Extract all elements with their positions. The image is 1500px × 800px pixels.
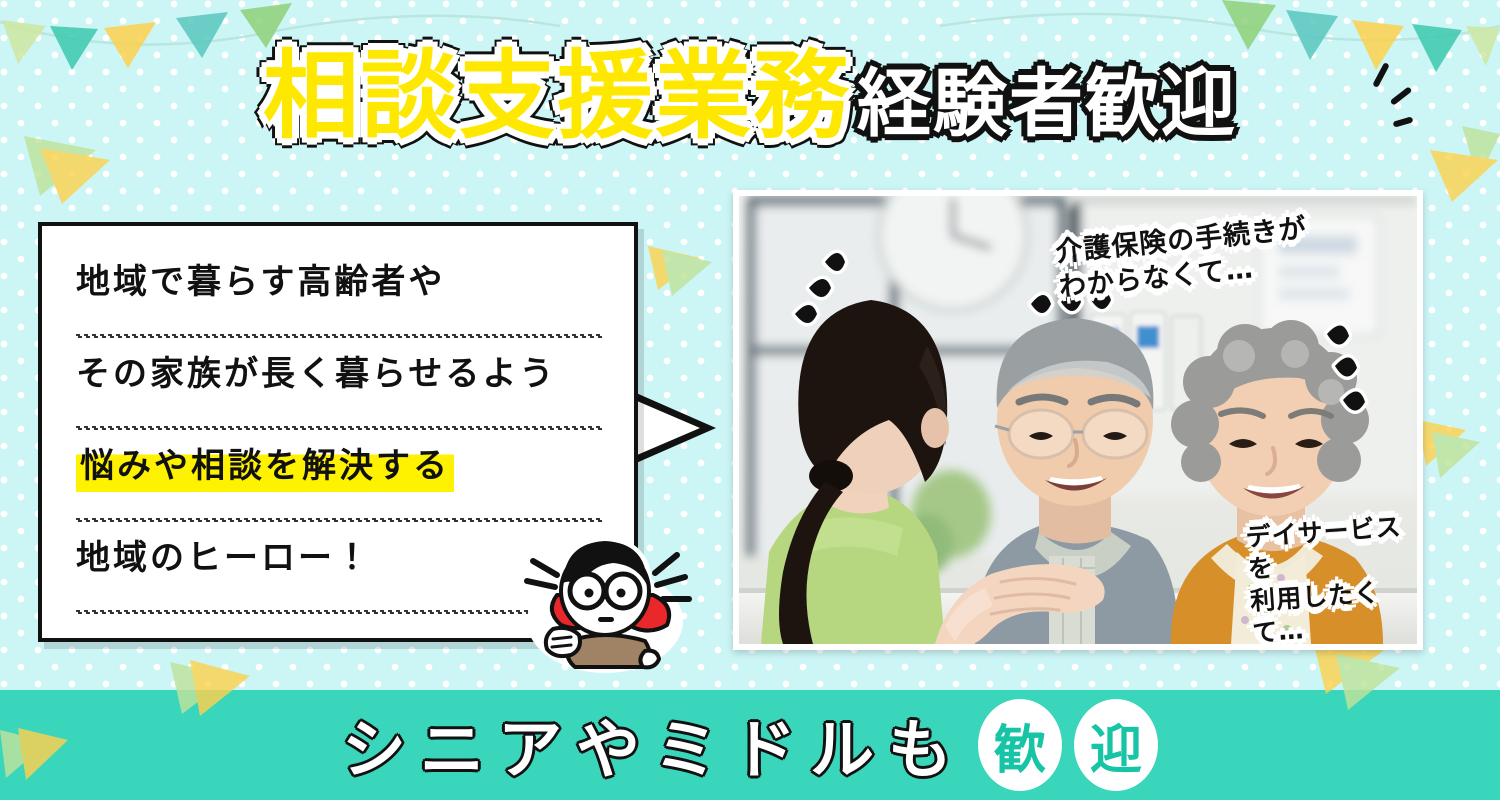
- card-divider: [76, 518, 604, 522]
- hero-mascot-icon: [505, 525, 705, 675]
- consultation-photo: 介護保険の手続きが わからなくて… デイサービスを 利用したくて…: [739, 196, 1417, 644]
- card-line: 地域で暮らす高齢者や: [76, 256, 608, 348]
- card-line-text: 地域で暮らす高齢者や: [76, 256, 445, 308]
- card-divider: [76, 426, 604, 430]
- card-line: その家族が長く暮らせるよう: [76, 348, 608, 440]
- card-line: 悩みや相談を解決する: [76, 440, 608, 532]
- headline: 相談支援業務経験者歓迎: [0, 42, 1500, 177]
- bottom-band-content: シニアやミドルも 歓 迎: [0, 690, 1500, 800]
- consultation-photo-frame: 介護保険の手続きが わからなくて… デイサービスを 利用したくて…: [733, 190, 1423, 650]
- card-line-text: その家族が長く暮らせるよう: [76, 348, 556, 400]
- headline-emphasis: 相談支援業務: [263, 42, 851, 150]
- card-line-text: 地域のヒーロー！: [76, 532, 372, 584]
- badge-kan: 歓: [978, 699, 1062, 791]
- card-line-text-highlighted: 悩みや相談を解決する: [76, 440, 454, 492]
- bottom-band-text: シニアやミドルも: [342, 699, 966, 791]
- headline-sub: 経験者歓迎: [857, 50, 1237, 158]
- badge-gei: 迎: [1074, 699, 1158, 791]
- job-ad-banner: 相談支援業務経験者歓迎 地域で暮らす高齢者や その家族が長く暮らせるよう 悩みや…: [0, 0, 1500, 800]
- speech-tail-fill: [630, 398, 700, 458]
- card-divider: [76, 334, 604, 338]
- photo-caption-2: デイサービスを 利用したくて…: [1245, 510, 1417, 644]
